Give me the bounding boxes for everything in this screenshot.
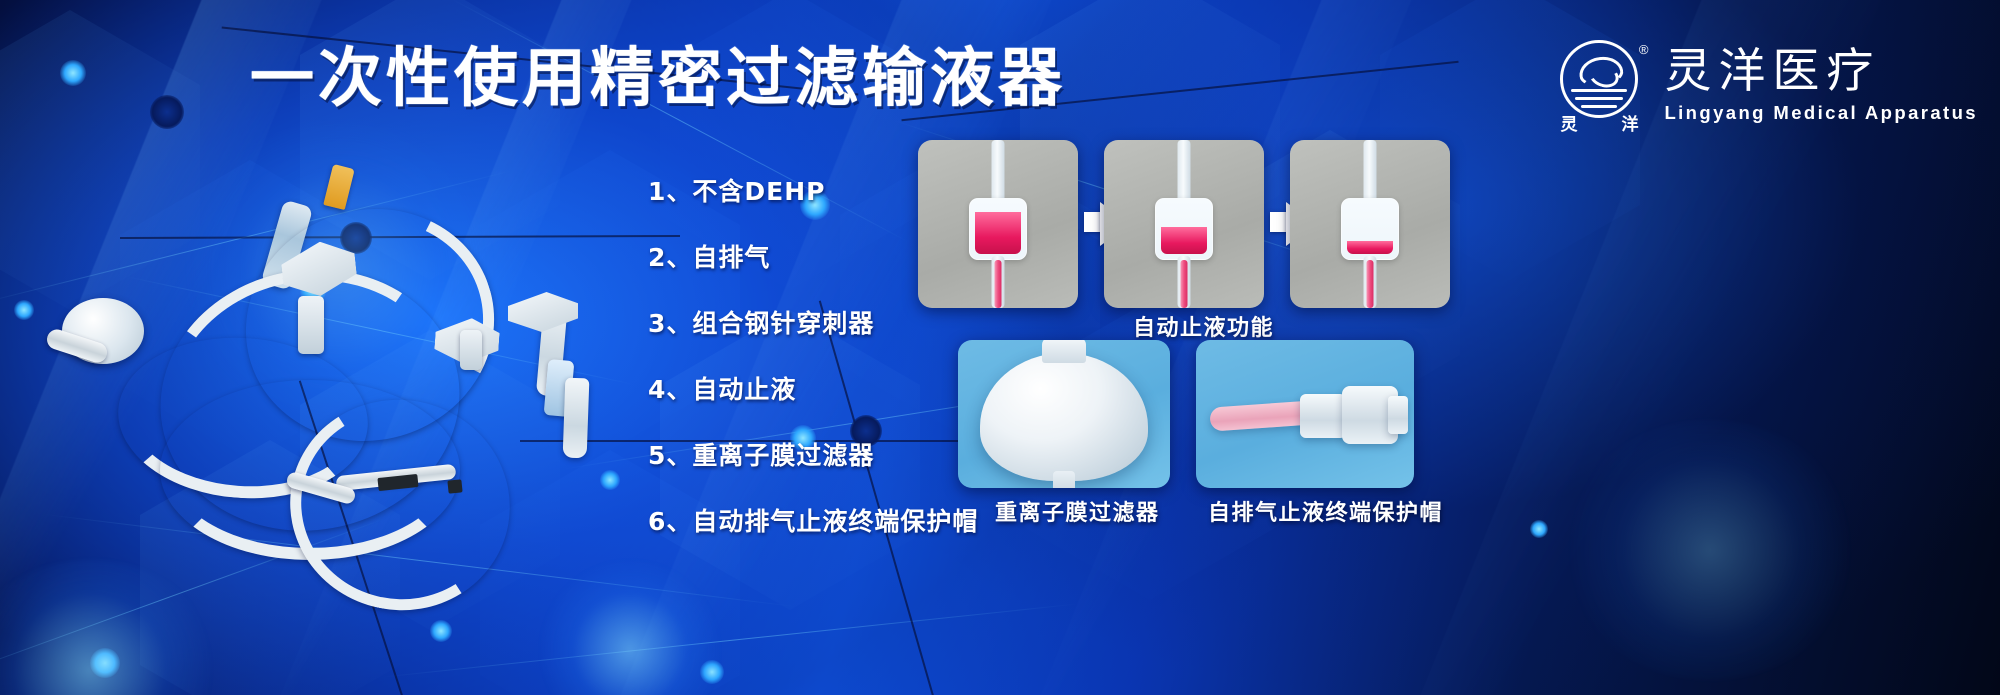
liquid-level bbox=[1347, 241, 1393, 254]
registered-trademark-icon: ® bbox=[1639, 42, 1649, 57]
product-banner: 一次性使用精密过滤输液器 ® 灵 洋 灵洋医疗 Lingyang Medical… bbox=[0, 0, 2000, 695]
network-node bbox=[430, 620, 452, 642]
process-caption: 自动止液功能 bbox=[1133, 310, 1274, 342]
network-node bbox=[60, 60, 86, 86]
liquid-level bbox=[975, 212, 1021, 254]
logo-wave-icon bbox=[1581, 105, 1617, 108]
liquid-level bbox=[1161, 227, 1207, 254]
process-photo-3 bbox=[1290, 140, 1450, 308]
brand-seal-mark: ® 灵 洋 bbox=[1560, 40, 1646, 132]
logo-wave-icon bbox=[1571, 89, 1627, 92]
needle-wings bbox=[508, 292, 578, 332]
feature-item-4: 4、自动止液 bbox=[648, 370, 978, 406]
network-node bbox=[90, 648, 120, 678]
roller-clamp bbox=[460, 330, 482, 370]
liquid-column bbox=[1367, 260, 1374, 308]
feature-item-6: 6、自动排气止液终端保护帽 bbox=[648, 502, 978, 538]
product-caption-filter: 重离子膜过滤器 bbox=[995, 495, 1160, 527]
glow-blob bbox=[1560, 420, 1860, 680]
logo-circle-icon bbox=[1560, 40, 1638, 118]
process-photo-2 bbox=[1104, 140, 1264, 308]
logo-seal-characters: 灵 洋 bbox=[1560, 110, 1638, 135]
tube-segment bbox=[1364, 140, 1377, 206]
drip-chamber bbox=[969, 198, 1027, 260]
product-photo-filter bbox=[958, 340, 1170, 488]
tube-marker-band bbox=[447, 479, 462, 493]
ion-membrane-filter-housing bbox=[980, 353, 1148, 481]
page-title: 一次性使用精密过滤输液器 bbox=[250, 46, 1066, 113]
logo-seal-char-right: 洋 bbox=[1621, 110, 1638, 135]
feature-item-3: 3、组合钢针穿刺器 bbox=[648, 304, 978, 340]
network-line bbox=[382, 603, 1078, 677]
glow-blob bbox=[540, 560, 720, 695]
drip-chamber bbox=[1341, 198, 1399, 260]
network-node bbox=[14, 300, 34, 320]
logo-seal-char-left: 灵 bbox=[1560, 110, 1577, 135]
terminal-protect-cap bbox=[563, 378, 590, 459]
logo-wave-icon bbox=[1575, 97, 1623, 100]
brand-name-en: Lingyang Medical Apparatus bbox=[1664, 102, 1978, 124]
tube-connector-pink bbox=[1209, 400, 1314, 431]
product-spike bbox=[323, 164, 355, 210]
network-node bbox=[700, 660, 724, 684]
brand-name-cn: 灵洋医疗 bbox=[1664, 48, 1880, 95]
filter-inlet-port bbox=[1042, 340, 1086, 363]
feature-item-5: 5、重离子膜过滤器 bbox=[648, 436, 978, 472]
network-node bbox=[1530, 520, 1548, 538]
tube-segment bbox=[992, 140, 1005, 206]
hero-product-image bbox=[40, 150, 650, 570]
luer-connector bbox=[1300, 394, 1346, 438]
filter-outlet-port bbox=[1053, 471, 1075, 488]
network-node bbox=[150, 95, 184, 129]
liquid-column bbox=[995, 260, 1002, 308]
product-photo-cap bbox=[1196, 340, 1414, 488]
cap-tip bbox=[1388, 396, 1408, 434]
glow-blob bbox=[0, 560, 220, 695]
brand-text-block: 灵洋医疗 Lingyang Medical Apparatus bbox=[1664, 48, 1978, 124]
tube-segment bbox=[1178, 140, 1191, 206]
page-title-wrap: 一次性使用精密过滤输液器 bbox=[250, 46, 1066, 113]
roller-clamp bbox=[298, 296, 324, 354]
product-caption-cap: 自排气止液终端保护帽 bbox=[1208, 495, 1443, 527]
liquid-column bbox=[1181, 260, 1188, 308]
drip-chamber bbox=[1155, 198, 1213, 260]
process-photo-1 bbox=[918, 140, 1078, 308]
brand-logo: ® 灵 洋 灵洋医疗 Lingyang Medical Apparatus bbox=[1560, 40, 1978, 132]
